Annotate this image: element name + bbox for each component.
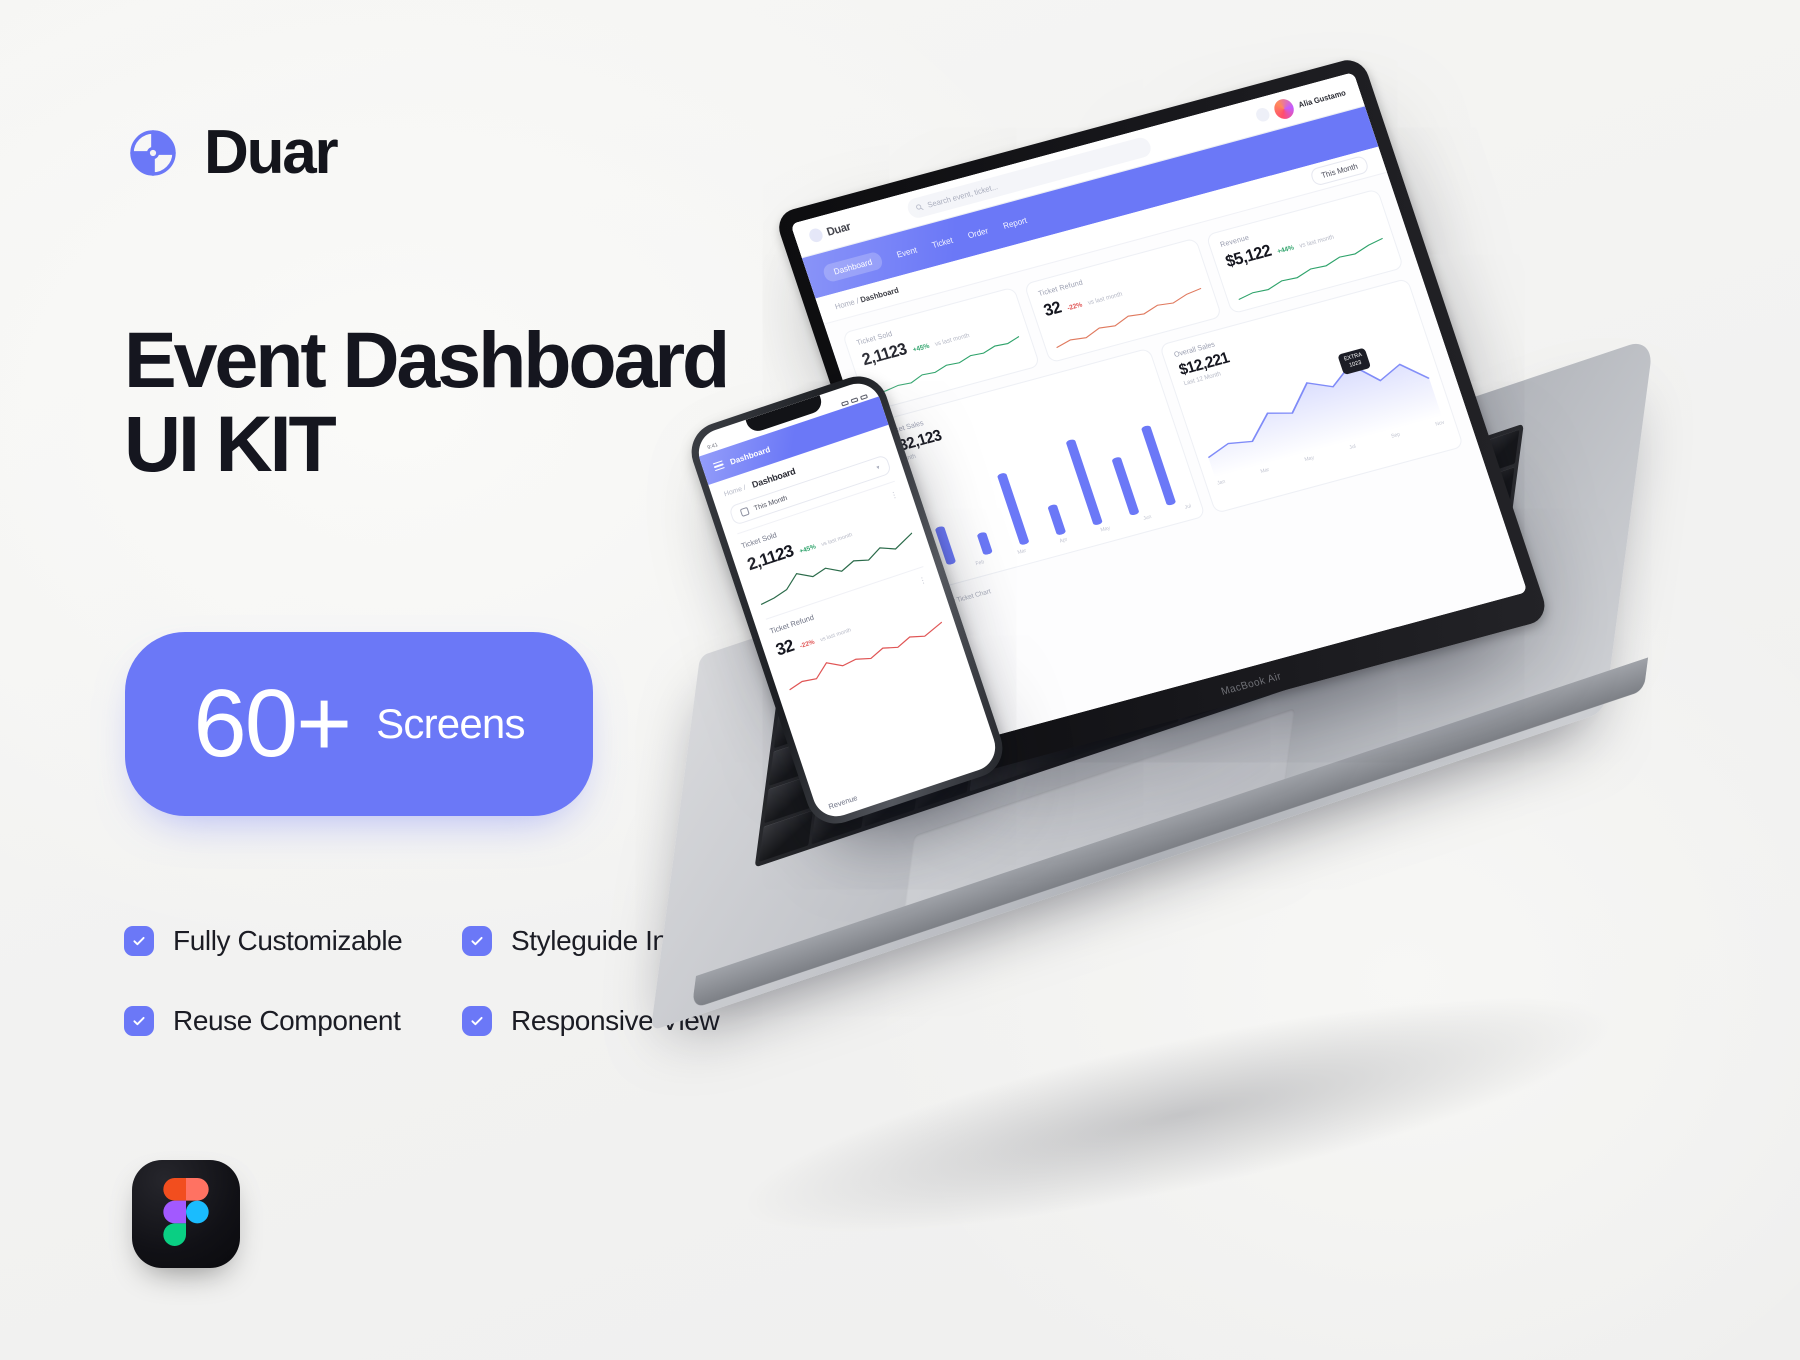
- brand-name: Duar: [204, 122, 336, 184]
- avatar: [1271, 97, 1296, 121]
- card-delta: -22%: [799, 639, 816, 650]
- axis-tick: Mar: [1017, 548, 1027, 556]
- nav-item-event[interactable]: Event: [895, 245, 918, 259]
- axis-tick: Jul: [1184, 503, 1192, 511]
- chevron-down-icon: ▾: [875, 464, 880, 472]
- figma-badge: [132, 1160, 240, 1268]
- pinwheel-logo-icon: [807, 227, 824, 243]
- check-icon: [462, 926, 492, 956]
- kpi-note: vs last month: [934, 333, 970, 348]
- axis-tick: Nov: [1435, 420, 1446, 428]
- axis-tick: Jan: [1216, 479, 1226, 487]
- card-delta: +45%: [799, 543, 817, 555]
- axis-tick: Jul: [1349, 443, 1357, 451]
- calendar-icon: [740, 507, 750, 517]
- kpi-note: vs last month: [1299, 234, 1335, 249]
- nav-item-ticket[interactable]: Ticket: [931, 235, 954, 250]
- check-icon: [462, 1006, 492, 1036]
- badge-count: 60+: [193, 676, 350, 772]
- axis-tick: Apr: [1059, 537, 1069, 545]
- menu-icon[interactable]: [713, 460, 725, 471]
- axis-tick: May: [1304, 455, 1315, 463]
- card-value: 32: [773, 636, 796, 661]
- feature-item-reuse-component[interactable]: Reuse Component: [124, 1005, 462, 1037]
- user-name: Alia Gustamo: [1297, 88, 1347, 110]
- more-options-icon[interactable]: ⋮: [889, 489, 900, 500]
- search-icon: [915, 203, 924, 212]
- kpi-delta: +44%: [1276, 244, 1295, 255]
- headline-line-1: Event Dashboard: [124, 315, 727, 404]
- axis-tick: May: [1100, 525, 1111, 533]
- kpi-delta: +45%: [912, 343, 931, 354]
- figma-logo-icon: [163, 1178, 209, 1251]
- brand-lockup: Duar: [124, 122, 336, 184]
- nav-item-report[interactable]: Report: [1002, 215, 1028, 230]
- filter-label: This Month: [753, 494, 788, 512]
- kpi-note: vs last month: [1087, 292, 1123, 307]
- card-note: vs last month: [821, 532, 854, 548]
- check-icon: [124, 926, 154, 956]
- check-icon: [124, 1006, 154, 1036]
- axis-tick: Mar: [1260, 467, 1270, 475]
- dashboard-brand-name: Duar: [825, 220, 852, 238]
- feature-label: Fully Customizable: [173, 925, 402, 957]
- breadcrumb[interactable]: Home /: [723, 484, 747, 498]
- axis-tick: Feb: [975, 559, 985, 567]
- kpi-value: 32: [1042, 299, 1064, 321]
- feature-item-fully-customizable[interactable]: Fully Customizable: [124, 925, 462, 957]
- bell-icon[interactable]: [1254, 107, 1271, 123]
- phone-footer-label: Revenue: [827, 793, 858, 811]
- breadcrumb-current: Dashboard: [859, 285, 900, 304]
- more-options-icon[interactable]: ⋮: [917, 575, 928, 586]
- breadcrumb-prefix[interactable]: Home /: [834, 296, 860, 311]
- feature-label: Reuse Component: [173, 1005, 400, 1037]
- search-placeholder: Search event, ticket...: [926, 182, 999, 210]
- nav-item-dashboard[interactable]: Dashboard: [821, 250, 884, 283]
- axis-tick: Jun: [1143, 514, 1153, 522]
- pinwheel-logo-icon: [124, 124, 182, 182]
- axis-tick: Sep: [1390, 431, 1401, 439]
- phone-nav-title: Dashboard: [729, 444, 771, 466]
- screens-count-badge: 60+ Screens: [125, 632, 593, 816]
- card-note: vs last month: [819, 627, 852, 643]
- kpi-delta: -22%: [1066, 301, 1083, 312]
- badge-label: Screens: [376, 703, 524, 745]
- nav-item-order[interactable]: Order: [966, 226, 989, 240]
- device-mockup-stage: Duar Search event, ticket... Alia Gustam…: [690, 60, 1800, 1330]
